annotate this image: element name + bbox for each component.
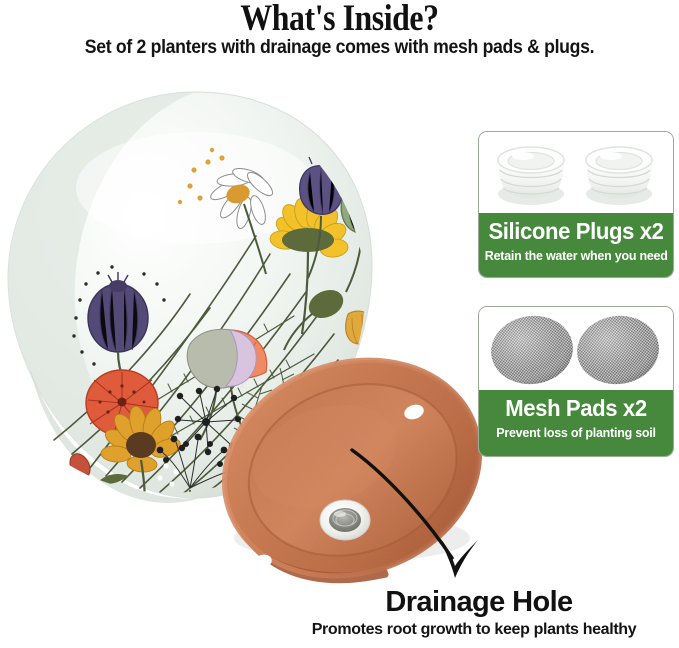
annotation-subtitle: Promotes root growth to keep plants heal… <box>269 620 679 640</box>
page-title: What's Inside? <box>48 0 632 38</box>
callout-subtitle: Prevent loss of planting soil <box>485 425 667 441</box>
infographic-page: What's Inside? Set of 2 planters with dr… <box>0 0 679 648</box>
silicone-plug-left <box>498 147 564 205</box>
callout-subtitle: Retain the water when you need <box>485 248 667 264</box>
silicone-plug-right <box>586 147 652 205</box>
gold-leaf <box>134 548 202 580</box>
annotation-title: Drainage Hole <box>279 586 679 618</box>
callout-card-mesh-pads[interactable]: Mesh Pads x2 Prevent loss of planting so… <box>478 306 674 457</box>
drainage-hole <box>320 500 370 540</box>
callout-caption: Mesh Pads x2 Prevent loss of planting so… <box>479 390 673 456</box>
page-subtitle: Set of 2 planters with drainage comes wi… <box>24 37 655 59</box>
callout-card-silicone-plugs[interactable]: Silicone Plugs x2 Retain the water when … <box>478 131 674 278</box>
mesh-pad-left <box>487 311 578 390</box>
silicone-plugs-image <box>479 132 673 215</box>
callout-caption: Silicone Plugs x2 Retain the water when … <box>479 213 673 277</box>
mesh-pad-right <box>573 311 664 390</box>
callout-title: Mesh Pads x2 <box>485 392 667 425</box>
callout-title: Silicone Plugs x2 <box>485 215 667 248</box>
base-notch <box>385 569 406 588</box>
mesh-pads-image <box>479 307 673 392</box>
